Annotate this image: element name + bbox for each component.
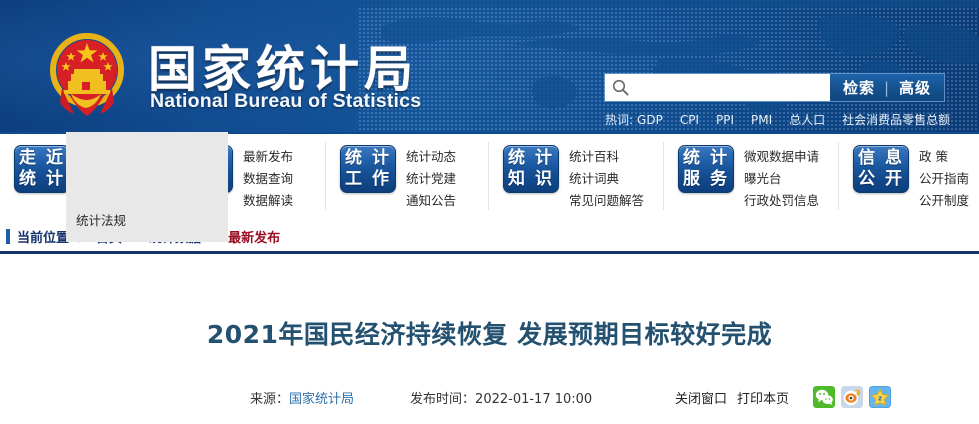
nav-link-work-2[interactable]: 通知公告 [406,190,456,212]
svg-text:z: z [878,395,882,403]
nav-badge-openinfo-line2: 公 开 [858,169,904,190]
nav-link-service-2[interactable]: 行政处罚信息 [744,190,819,212]
close-window-button[interactable]: 关闭窗口 [675,388,727,407]
nav-link-openinfo-1[interactable]: 公开指南 [919,168,969,190]
nav-dropdown-about: 国家统计局 派驻纪检组 机构职能 统计法规 [66,132,228,242]
article-title: 2021年国民经济持续恢复 发展预期目标较好完成 [0,315,979,351]
article-publish-time: 发布时间：2022-01-17 10:00 [410,388,592,407]
hotword-cpi[interactable]: CPI [680,113,699,127]
nav-group-openinfo: 信 息 公 开 政 策 公开指南 公开制度 [839,134,979,220]
article-source: 来源：国家统计局 [250,388,354,407]
article-actions: 关闭窗口 打印本页 [675,386,891,408]
hotword-ppi[interactable]: PPI [716,113,734,127]
hotword-pmi[interactable]: PMI [751,113,772,127]
nav-badge-about[interactable]: 走 近 统 计 [14,145,70,193]
page-root: 国家统计局 National Bureau of Statistics 检索 |… [0,0,979,424]
breadcrumb-current: 最新发布 [228,227,280,246]
search-submit-label: 检索 [843,77,875,98]
hotword-gdp[interactable]: GDP [637,113,663,127]
advanced-search-label[interactable]: 高级 [899,77,931,98]
nav-link-about-3[interactable]: 统计法规 [76,210,139,232]
print-page-button[interactable]: 打印本页 [737,388,789,407]
nav-badge-service[interactable]: 统 计 服 务 [678,145,734,193]
nav-link-openinfo-2[interactable]: 公开制度 [919,190,969,212]
nav-link-knowledge-0[interactable]: 统计百科 [569,146,644,168]
nav-badge-work-line2: 工 作 [345,169,391,190]
nav-link-service-1[interactable]: 曝光台 [744,168,819,190]
nav-badge-work-line1: 统 计 [345,148,391,169]
nav-badge-service-line2: 服 务 [683,169,729,190]
nav-badge-service-line1: 统 计 [683,148,729,169]
nav-link-data-2[interactable]: 数据解读 [243,190,293,212]
nav-badge-work[interactable]: 统 计 工 作 [340,145,396,193]
nav-link-work-0[interactable]: 统计动态 [406,146,456,168]
hotword-population[interactable]: 总人口 [789,111,825,128]
search-bar[interactable]: 检索 | 高级 [604,73,945,102]
nav-badge-openinfo-line1: 信 息 [858,148,904,169]
search-input[interactable] [635,74,830,101]
hotwords-label: 热词: [605,111,633,128]
nav-link-work-1[interactable]: 统计党建 [406,168,456,190]
nav-group-work: 统 计 工 作 统计动态 统计党建 通知公告 [326,134,489,220]
article-source-value: 国家统计局 [289,392,354,407]
nav-link-openinfo-0[interactable]: 政 策 [919,146,969,168]
nav-link-data-0[interactable]: 最新发布 [243,146,293,168]
article-time-label: 发布时间： [410,392,475,407]
site-header-banner: 国家统计局 National Bureau of Statistics 检索 |… [0,0,979,132]
search-icon [605,74,635,101]
search-submit-button[interactable]: 检索 | 高级 [830,74,944,101]
nav-badge-knowledge[interactable]: 统 计 知 识 [503,145,559,193]
favorite-star-icon[interactable]: z [869,386,891,408]
search-button-divider: | [884,79,890,97]
site-title-en: National Bureau of Statistics [150,90,421,113]
nav-badge-about-line1: 走 近 [19,148,65,169]
nav-badge-openinfo[interactable]: 信 息 公 开 [853,145,909,193]
article-source-label: 来源： [250,392,289,407]
nav-link-knowledge-2[interactable]: 常见问题解答 [569,190,644,212]
nav-link-data-1[interactable]: 数据查询 [243,168,293,190]
breadcrumb-label: 当前位置 [17,227,69,246]
weibo-share-icon[interactable] [841,386,863,408]
nav-badge-about-line2: 统 计 [19,169,65,190]
article-time-value: 2022-01-17 10:00 [475,392,592,407]
nav-group-knowledge: 统 计 知 识 统计百科 统计词典 常见问题解答 [489,134,664,220]
article-meta: 来源：国家统计局 发布时间：2022-01-17 10:00 关闭窗口 打印本页 [0,388,979,414]
article-container: 2021年国民经济持续恢复 发展预期目标较好完成 来源：国家统计局 发布时间：2… [0,257,979,414]
nav-badge-knowledge-line1: 统 计 [508,148,554,169]
share-buttons: z [813,386,891,408]
hotword-retail-sales[interactable]: 社会消费品零售总额 [842,111,950,128]
nav-group-service: 统 计 服 务 微观数据申请 曝光台 行政处罚信息 [664,134,839,220]
wechat-share-icon[interactable] [813,386,835,408]
article-meta-left: 来源：国家统计局 发布时间：2022-01-17 10:00 [250,388,592,407]
nav-badge-knowledge-line2: 知 识 [508,169,554,190]
breadcrumb-accent-bar [6,229,10,244]
nav-link-service-0[interactable]: 微观数据申请 [744,146,819,168]
nav-link-knowledge-1[interactable]: 统计词典 [569,168,644,190]
hotwords-bar: 热词: GDP CPI PPI PMI 总人口 社会消费品零售总额 [605,111,950,128]
national-emblem-icon [44,26,130,118]
